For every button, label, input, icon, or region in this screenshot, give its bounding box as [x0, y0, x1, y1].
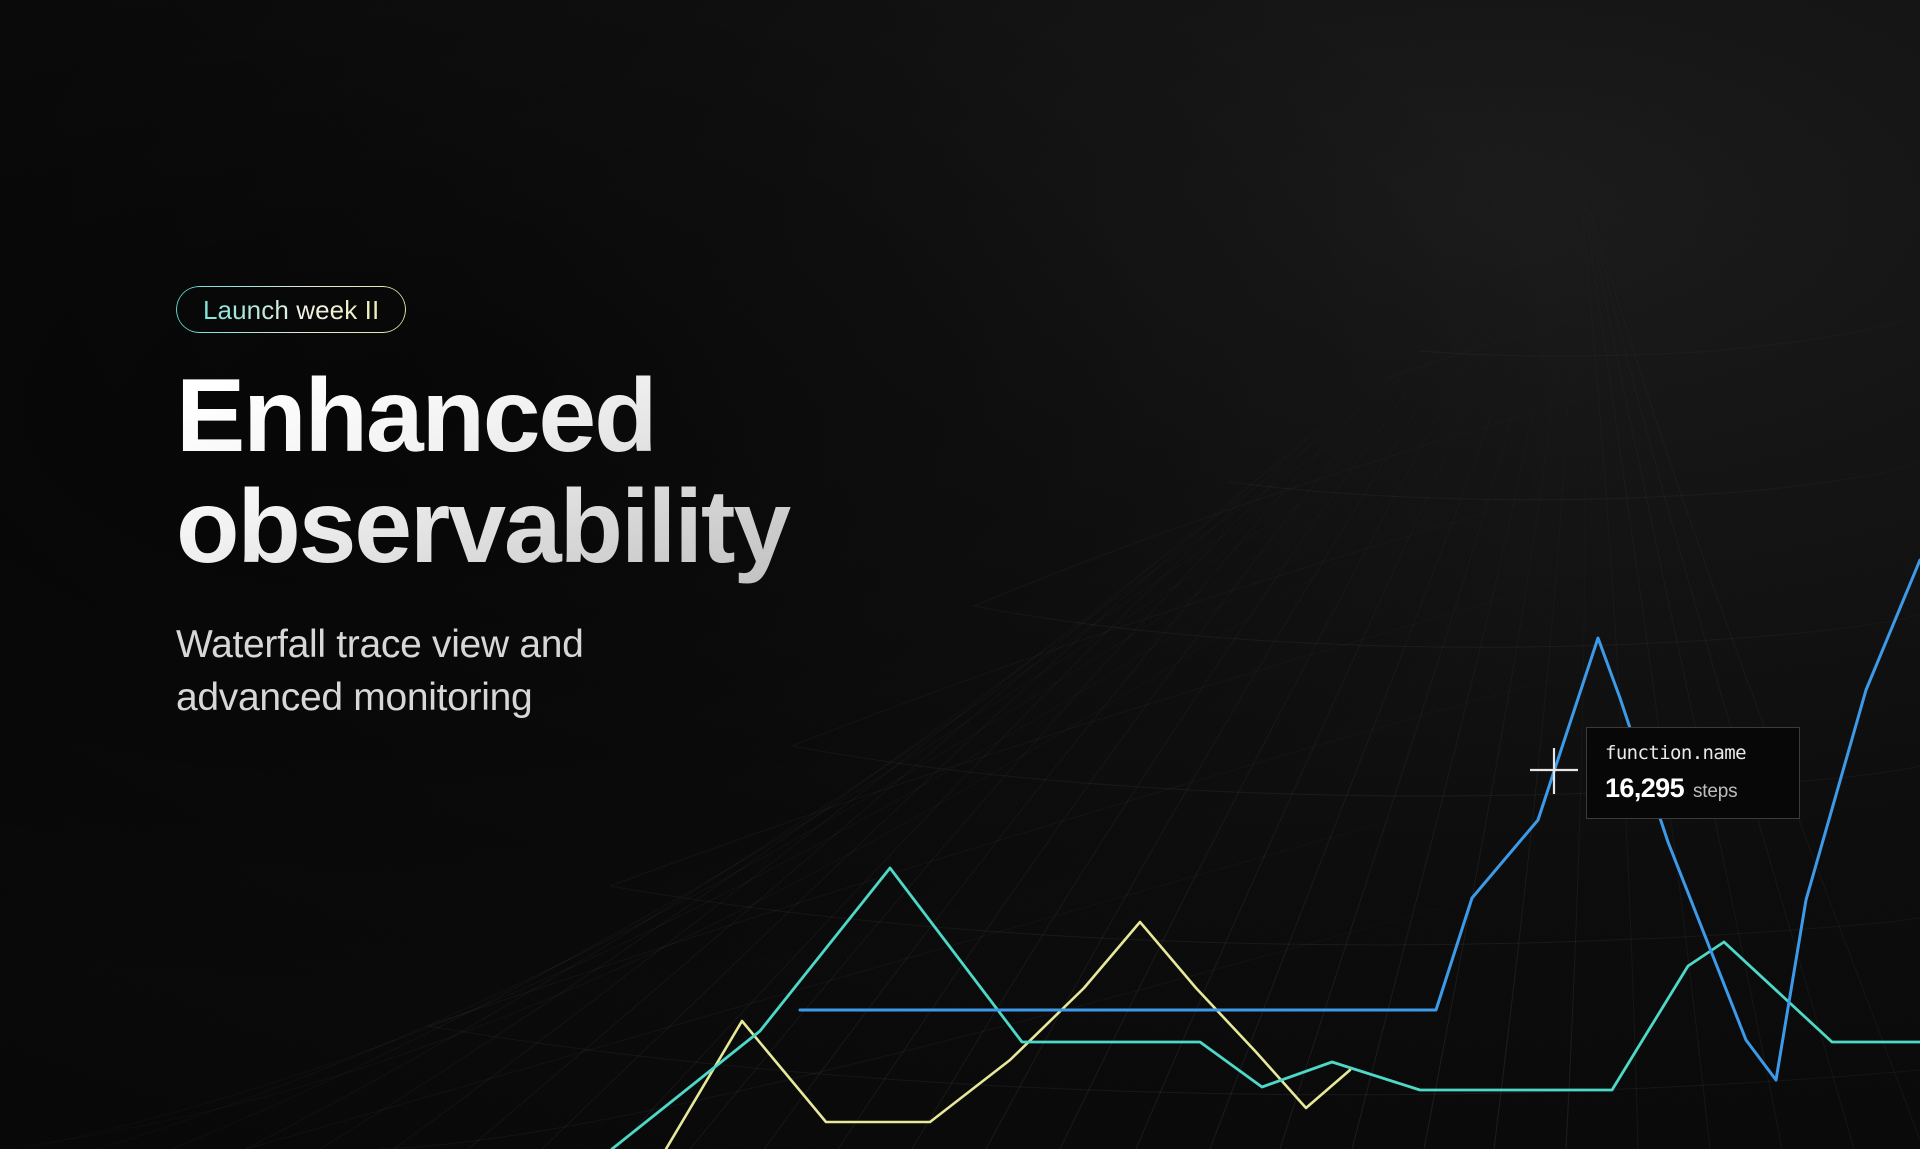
page-title-line-1: Enhanced — [176, 361, 996, 472]
page-subtitle-line-2: advanced monitoring — [176, 671, 996, 725]
chart-tooltip: function.name 16,295 steps — [1586, 727, 1800, 819]
tooltip-title: function.name — [1605, 744, 1781, 763]
hero-banner: Launch week II Enhanced observability Wa… — [0, 0, 1920, 1149]
hero-copy: Launch week II Enhanced observability Wa… — [176, 286, 996, 725]
page-subtitle-line-1: Waterfall trace view and — [176, 618, 996, 672]
tooltip-unit: steps — [1693, 782, 1737, 801]
page-title: Enhanced observability — [176, 361, 996, 584]
page-title-line-2: observability — [176, 472, 996, 583]
launch-week-badge[interactable]: Launch week II — [176, 286, 406, 333]
page-subtitle: Waterfall trace view and advanced monito… — [176, 618, 996, 726]
tooltip-value-row: 16,295 steps — [1605, 775, 1781, 802]
tooltip-value: 16,295 — [1605, 775, 1684, 802]
